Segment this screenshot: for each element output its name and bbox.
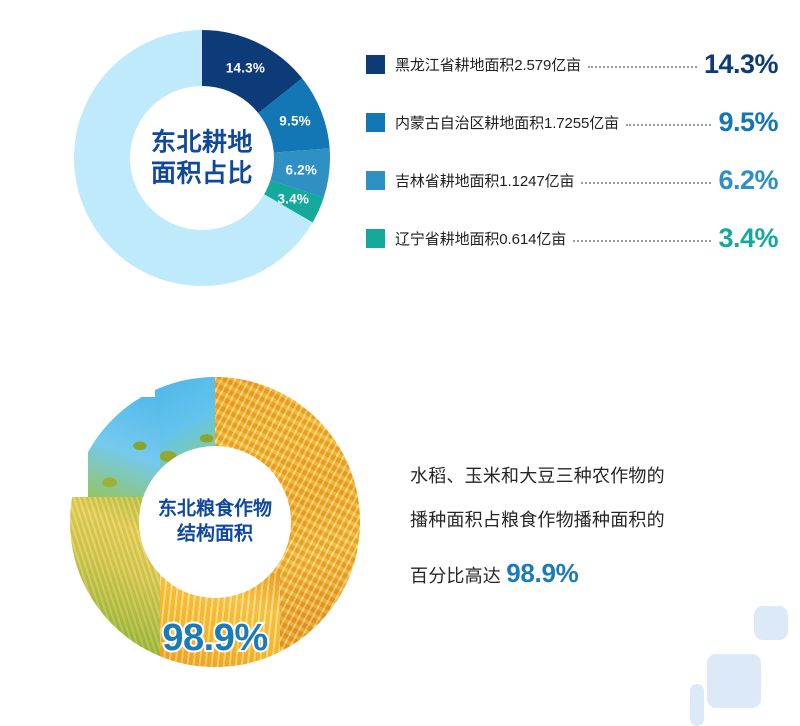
crop-ring-percentage: 98.9% [162,617,267,660]
legend-color-swatch [366,55,385,74]
crop-caption-line1: 水稻、玉米和大豆三种农作物的 [410,455,750,499]
crop-caption: 水稻、玉米和大豆三种农作物的 播种面积占粮食作物播种面积的 百分比高达 98.9… [410,455,750,605]
farmland-slice-percentage: 6.2% [285,162,317,177]
legend-label: 内蒙古自治区耕地面积1.7255亿亩 [395,112,619,133]
legend-leader-dots [588,65,697,68]
farmland-donut-chart: 东北耕地 面积占比 14.3%9.5%6.2%3.4% [72,28,332,288]
legend-leader-dots [626,123,711,126]
crop-caption-highlight: 98.9% [506,558,578,588]
farmland-share-section: 东北耕地 面积占比 14.3%9.5%6.2%3.4% 黑龙江省耕地面积2.57… [0,0,800,330]
legend-label: 吉林省耕地面积1.1247亿亩 [395,170,574,191]
farmland-slice-percentage: 9.5% [279,114,311,129]
legend-percentage: 14.3% [704,49,778,80]
crop-structure-donut-chart: 东北粮食作物 结构面积 98.9% [70,377,360,667]
legend-row[interactable]: 黑龙江省耕地面积2.579亿亩14.3% [366,52,778,76]
crop-caption-line3: 百分比高达 98.9% [410,542,750,605]
crop-donut-hole [139,446,291,598]
legend-row[interactable]: 吉林省耕地面积1.1247亿亩6.2% [366,168,778,192]
crop-structure-section: 东北粮食作物 结构面积 98.9% 水稻、玉米和大豆三种农作物的 播种面积占粮食… [0,355,800,715]
legend-percentage: 3.4% [718,223,778,254]
legend-percentage: 9.5% [718,107,778,138]
legend-leader-dots [573,239,711,242]
farmland-legend: 黑龙江省耕地面积2.579亿亩14.3%内蒙古自治区耕地面积1.7255亿亩9.… [366,52,778,250]
legend-percentage: 6.2% [718,165,778,196]
legend-label: 辽宁省耕地面积0.614亿亩 [395,228,566,249]
crop-caption-line2: 播种面积占粮食作物播种面积的 [410,499,750,543]
legend-color-swatch [366,229,385,248]
farmland-donut-hole [130,86,274,230]
farmland-slice-percentage: 14.3% [226,60,265,75]
legend-color-swatch [366,113,385,132]
legend-leader-dots [581,181,711,184]
legend-row[interactable]: 辽宁省耕地面积0.614亿亩3.4% [366,226,778,250]
legend-color-swatch [366,171,385,190]
farmland-slice-percentage: 3.4% [277,191,309,206]
legend-label: 黑龙江省耕地面积2.579亿亩 [395,54,581,75]
legend-row[interactable]: 内蒙古自治区耕地面积1.7255亿亩9.5% [366,110,778,134]
crop-caption-line3-prefix: 百分比高达 [410,566,501,586]
farmland-donut-svg [72,28,332,288]
